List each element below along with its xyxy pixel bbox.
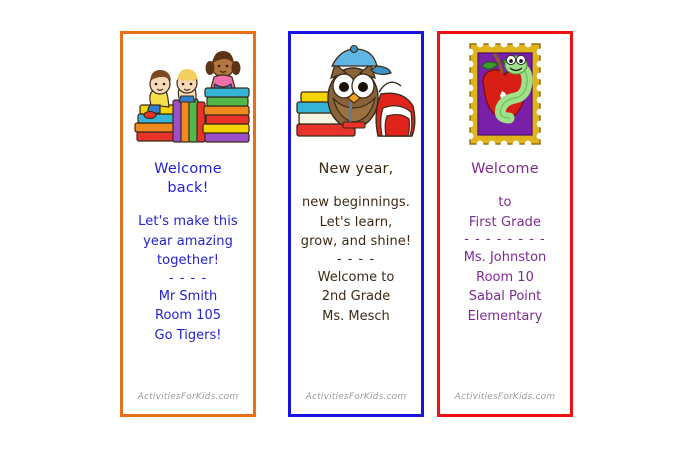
bookmark-signature: Welcome to 2nd Grade Ms. Mesch — [318, 268, 395, 327]
bookmark-headline: Welcome — [471, 160, 539, 179]
bookmark-new-year[interactable]: New year, new beginnings. Let's learn, g… — [288, 31, 424, 417]
bookmark-divider: - - - - — [337, 252, 375, 268]
bookmark-text-block: New year, new beginnings. Let's learn, g… — [291, 154, 421, 414]
bookmark-divider: - - - - — [169, 271, 207, 287]
printable-bookmarks-page: Welcome back! Let's make this year amazi… — [0, 0, 700, 450]
bookmark-headline: Welcome back! — [154, 160, 222, 198]
bookmark-text-block: Welcome back! Let's make this year amazi… — [123, 154, 253, 414]
bookmark-body: new beginnings. Let's learn, grow, and s… — [301, 193, 411, 252]
bookmark-body: Let's make this year amazing together! — [138, 212, 238, 271]
bookmark-welcome-back[interactable]: Welcome back! Let's make this year amazi… — [120, 31, 256, 417]
owl-with-books-and-backpack-clipart — [291, 36, 421, 154]
bookmark-headline: New year, — [319, 160, 394, 179]
bookmark-body: to First Grade — [469, 193, 541, 232]
bookmark-divider: - - - - - - - - — [464, 232, 545, 248]
watermark: ActivitiesForKids.com — [306, 392, 407, 402]
bookmark-first-grade[interactable]: Welcome to First Grade - - - - - - - - M… — [437, 31, 573, 417]
kids-on-books-clipart — [123, 36, 253, 154]
bookmark-signature: Mr Smith Room 105 Go Tigers! — [155, 287, 222, 346]
bookmark-text-block: Welcome to First Grade - - - - - - - - M… — [440, 154, 570, 414]
watermark: ActivitiesForKids.com — [138, 392, 239, 402]
watermark: ActivitiesForKids.com — [455, 392, 556, 402]
bookmark-signature: Ms. Johnston Room 10 Sabal Point Element… — [464, 248, 547, 326]
apple-with-worm-stamp-clipart — [440, 36, 570, 154]
